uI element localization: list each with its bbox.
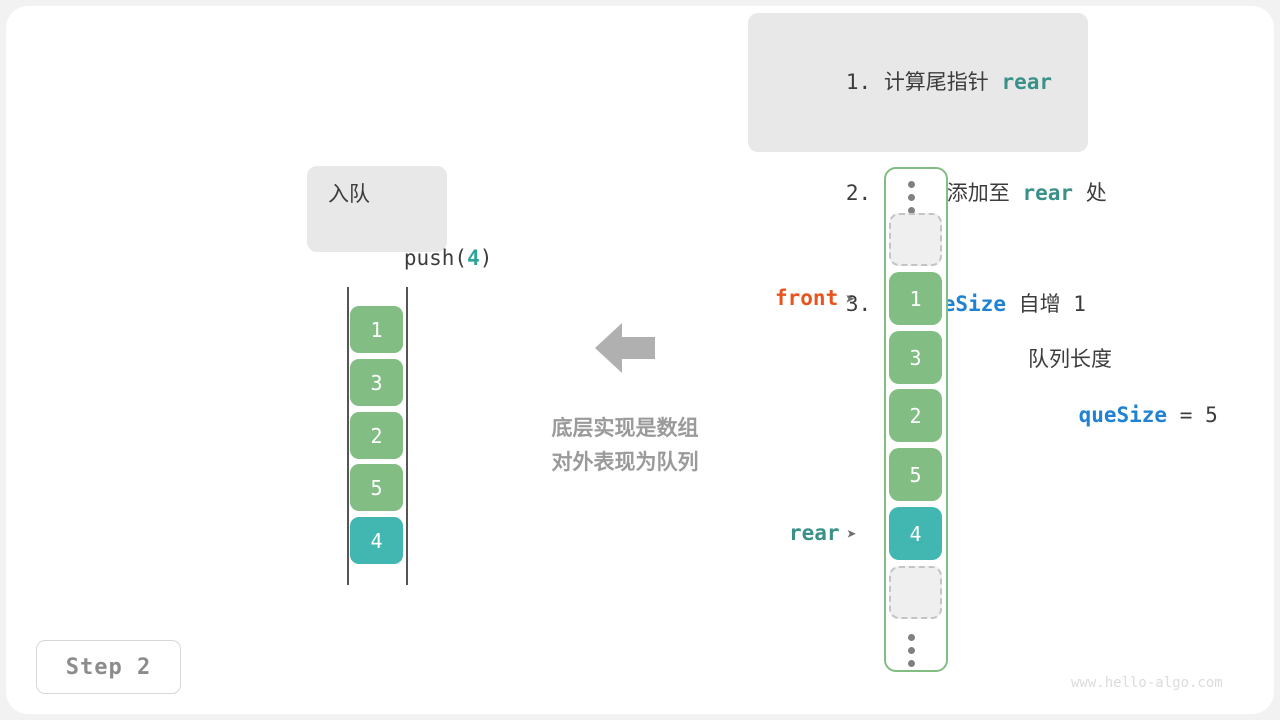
front-pointer-arrow-icon: ➤ <box>845 290 855 310</box>
queue-cell: 1 <box>350 306 403 353</box>
queue-rail-right <box>406 287 408 585</box>
rear-pointer-text: rear <box>789 521 840 545</box>
array-slot-filled: 1 <box>889 272 942 325</box>
array-slot-filled-new: 4 <box>889 507 942 560</box>
instruction-box: 1. 计算尾指针 rear 2. 将元素添加至 rear 处 3. 将 queS… <box>748 13 1088 152</box>
rear-pointer-label: rear➤ <box>789 521 857 545</box>
quesize-number: 5 <box>1205 403 1218 427</box>
quesize-equals: = <box>1180 403 1193 427</box>
quesize-variable: queSize <box>1079 403 1168 427</box>
operation-title: 入队 <box>328 178 447 210</box>
queue-cell: 3 <box>350 359 403 406</box>
operation-call-value: 4 <box>467 246 480 270</box>
queue-cell-value: 4 <box>370 529 382 553</box>
array-slot-filled: 5 <box>889 448 942 501</box>
instruction-text-3b: 自增 1 <box>1006 292 1086 316</box>
keyword-rear-1: rear <box>1001 70 1052 94</box>
array-slot-empty <box>889 213 942 266</box>
array-slot-filled: 2 <box>889 389 942 442</box>
screenshot-canvas: 1. 计算尾指针 rear 2. 将元素添加至 rear 处 3. 将 queS… <box>0 0 1280 720</box>
array-slot-value: 5 <box>909 463 921 487</box>
array-slot-value: 1 <box>909 287 921 311</box>
queue-cell-value: 2 <box>370 424 382 448</box>
array-slot-value: 2 <box>909 404 921 428</box>
front-pointer-label: front➤ <box>775 286 855 310</box>
keyword-rear-2: rear <box>1022 181 1073 205</box>
instruction-text-2b: 处 <box>1073 181 1107 205</box>
queue-length-value: queSize = 5 <box>1028 379 1218 451</box>
queue-cell-value: 5 <box>370 476 382 500</box>
queue-cell: 5 <box>350 464 403 511</box>
instruction-line-1: 1. 计算尾指针 rear <box>770 27 1088 138</box>
watermark: www.hello-algo.com <box>1071 675 1223 691</box>
rear-pointer-arrow-icon: ➤ <box>847 525 857 545</box>
operation-call-prefix: push( <box>404 246 467 270</box>
array-slot-empty <box>889 566 942 619</box>
array-slot-filled: 3 <box>889 331 942 384</box>
caption-line-1: 底层实现是数组 <box>528 412 722 446</box>
operation-call-suffix: ) <box>480 246 493 270</box>
array-slot-value: 4 <box>909 522 921 546</box>
step-badge: Step 2 <box>36 640 181 694</box>
queue-length-label: 队列长度 <box>1028 343 1112 373</box>
step-badge-text: Step 2 <box>66 655 151 680</box>
array-slot-value: 3 <box>909 346 921 370</box>
queue-cell-value: 3 <box>370 371 382 395</box>
left-arrow-icon <box>592 318 658 383</box>
operation-box: 入队 push(4) <box>307 166 447 252</box>
queue-cell-new: 4 <box>350 517 403 564</box>
instruction-text-1a: 计算尾指针 <box>884 70 1002 94</box>
instruction-index-1: 1. <box>846 70 871 94</box>
operation-call: push(4) <box>328 210 447 306</box>
queue-cell-value: 1 <box>370 318 382 342</box>
queue-rail-left <box>347 287 349 585</box>
front-pointer-text: front <box>775 286 838 310</box>
center-caption: 底层实现是数组 对外表现为队列 <box>528 412 722 480</box>
queue-cell: 2 <box>350 412 403 459</box>
array-bottom-ellipsis-icon <box>908 634 915 673</box>
instruction-index-2: 2. <box>846 181 871 205</box>
caption-line-2: 对外表现为队列 <box>528 446 722 480</box>
